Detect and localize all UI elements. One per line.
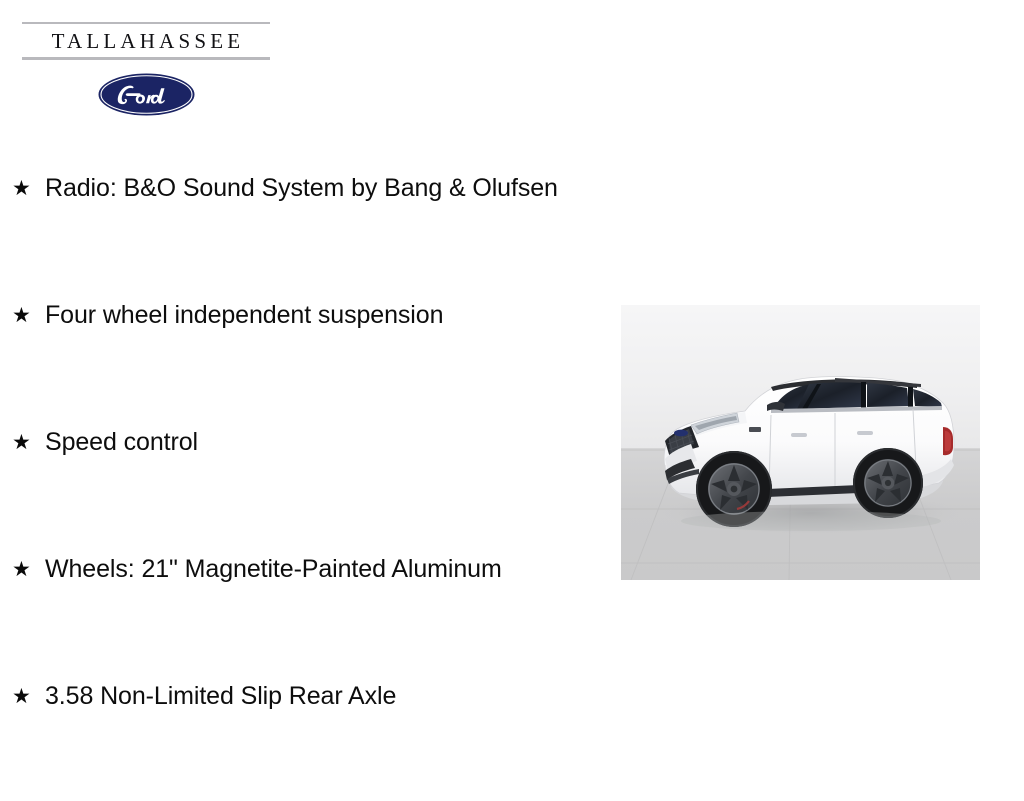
feature-item: ★ Speed control bbox=[0, 420, 610, 547]
feature-label: Wheels: 21" Magnetite-Painted Aluminum bbox=[45, 552, 502, 586]
dealer-name-rule-frame: TALLAHASSEE bbox=[22, 22, 270, 60]
vehicle-feature-list: ★ Radio: B&O Sound System by Bang & Oluf… bbox=[0, 166, 610, 801]
ford-oval-logo-icon bbox=[98, 73, 195, 116]
dealer-logo: TALLAHASSEE bbox=[0, 0, 300, 130]
feature-item: ★ Radio: B&O Sound System by Bang & Oluf… bbox=[0, 166, 610, 293]
star-bullet-icon: ★ bbox=[12, 559, 31, 580]
feature-item: ★ 3.58 Non-Limited Slip Rear Axle bbox=[0, 674, 610, 801]
dealer-name: TALLAHASSEE bbox=[22, 26, 270, 56]
feature-item: ★ Four wheel independent suspension bbox=[0, 293, 610, 420]
star-bullet-icon: ★ bbox=[12, 305, 31, 326]
vehicle-photo bbox=[621, 305, 980, 580]
feature-label: Four wheel independent suspension bbox=[45, 298, 443, 332]
feature-label: 3.58 Non-Limited Slip Rear Axle bbox=[45, 679, 396, 713]
star-bullet-icon: ★ bbox=[12, 432, 31, 453]
star-bullet-icon: ★ bbox=[12, 686, 31, 707]
feature-item: ★ Wheels: 21" Magnetite-Painted Aluminum bbox=[0, 547, 610, 674]
feature-label: Speed control bbox=[45, 425, 198, 459]
star-bullet-icon: ★ bbox=[12, 178, 31, 199]
feature-label: Radio: B&O Sound System by Bang & Olufse… bbox=[45, 171, 558, 205]
